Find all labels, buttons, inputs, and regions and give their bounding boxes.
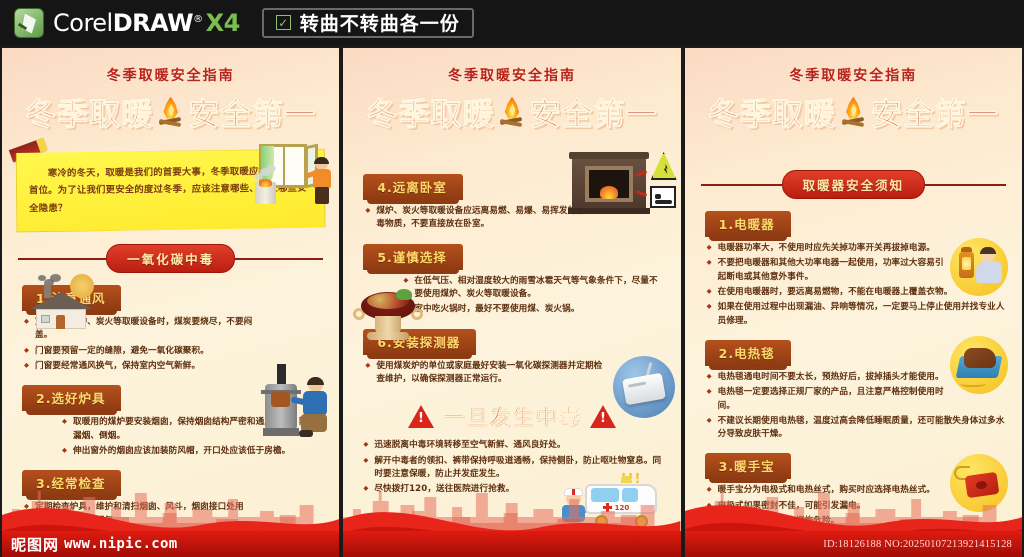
flame-icon [157, 97, 184, 127]
flammable-warning-sign-icon [651, 152, 677, 180]
panel1-footer-bar: 昵图网 www.nipic.com [2, 531, 339, 557]
list-item: 电暖器功率大，不使用时应先关掉功率开关再拔掉电源。 [707, 242, 946, 255]
panel2-tab-4: 4.远离卧室 [363, 174, 462, 200]
rule-left [18, 258, 106, 260]
electric-heater-icon [950, 238, 1008, 296]
panel3-tab-2: 2.电热毯 [705, 340, 791, 366]
list-item: 迅速脱离中毒环境转移至空气新鲜、通风良好处。 [363, 439, 666, 452]
bedroom-sign-icon [650, 186, 676, 208]
list-item: 如果在使用过程中出现漏油、异响等情况，一定要马上停止使用并找专业人员修理。 [707, 301, 1006, 328]
poster-panel-1[interactable]: 冬季取暖安全指南 冬季取暖 安全第一 寒冷的冬天，取暖是我们的首要大事，冬季取暖… [2, 48, 339, 557]
headline-right-text: 安全第一 [529, 89, 657, 134]
brand-draw: DRAW [113, 9, 193, 37]
headline-right-text: 安全第一 [188, 89, 316, 134]
panel2-bottom-decoration [343, 465, 680, 557]
list-item: 伸出窗外的烟囱应该加装防风帽，开口处应该低于房檐。 [62, 445, 323, 458]
headline-left-text: 冬季取暖 [25, 89, 153, 134]
panel2-tab-5: 5.谨慎选择 [363, 244, 462, 270]
panel3-tab-1: 1.电暖器 [705, 211, 791, 237]
warning-triangle-left-icon [408, 405, 434, 428]
list-item: 电热毯通电时间不要太长，预热好后，拔掉插头才能使用。 [707, 371, 944, 384]
brand-version: X4 [206, 9, 240, 37]
list-item: 不要把电暖器和其他大功率电器一起使用，功率过大容易引起断电或其他意外事件。 [707, 257, 946, 284]
house-chimney-illustration [26, 270, 98, 330]
image-id-text: ID:18126188 NO:20250107213921415128 [823, 539, 1022, 550]
list-item: 电热毯一定要选择正规厂家的产品，且注意严格控制使用时间。 [707, 386, 944, 413]
panel3-tab-1-wrap: 1.电暖器 [705, 211, 1022, 237]
panel1-tab-2: 2.选好炉具 [22, 385, 121, 411]
panel1-pill-label: 一氧化碳中毒 [106, 244, 235, 273]
rule-right [925, 184, 1006, 186]
panel3-headline: 冬季取暖 安全第一 [685, 89, 1022, 134]
panel3-pill-label: 取暖器安全须知 [782, 170, 926, 199]
checkbox-checked-icon[interactable]: ✓ [276, 15, 291, 30]
panel2-tab-5-wrap: 5.谨慎选择 [363, 244, 680, 270]
headline-left-text: 冬季取暖 [366, 89, 494, 134]
poster-panel-2[interactable]: 冬季取暖安全指南 冬季取暖 安全第一 4.远离卧室 煤炉、炭火等取暖设备应远离易… [343, 48, 680, 557]
panel3-subtitle: 冬季取暖安全指南 [685, 65, 1022, 85]
panel3-footer-bar: ID:18126188 NO:20250107213921415128 [685, 531, 1022, 557]
list-item: 门窗要预留一定的缝隙，避免一氧化碳聚积。 [24, 345, 269, 358]
nipic-cn-text: 昵图网 [11, 534, 59, 555]
app-titlebar: CorelDRAW®X4 ✓ 转曲不转曲各一份 [0, 0, 1024, 45]
nipic-watermark: 昵图网 www.nipic.com [2, 534, 178, 555]
conversion-note-text: 转曲不转曲各一份 [300, 9, 460, 36]
warning-title: 一旦发生中毒 [443, 401, 581, 431]
nipic-url-text: www.nipic.com [64, 536, 177, 552]
panel2-headline: 冬季取暖 安全第一 [343, 89, 680, 134]
hotpot-illustration [357, 286, 419, 346]
panel1-headline: 冬季取暖 安全第一 [2, 89, 339, 134]
panel1-section-pill-row: 一氧化碳中毒 [18, 244, 323, 273]
panel1-subtitle: 冬季取暖安全指南 [2, 65, 339, 85]
coreldraw-logo-icon [14, 8, 44, 38]
ventilation-window-illustration [247, 144, 333, 206]
stove-inspection-illustration [261, 364, 331, 442]
rule-left [701, 184, 782, 186]
fireplace-illustration [572, 152, 677, 218]
list-item: 在低气压、相对湿度较大的雨雪冰雹天气等气象条件下，尽量不要使用煤炉、炭火等取暖设… [403, 275, 664, 302]
electric-blanket-icon [950, 336, 1008, 394]
panel3-section-pill-row: 取暖器安全须知 [701, 170, 1006, 199]
list-item: 门窗要经常通风换气，保持室内空气新鲜。 [24, 360, 269, 373]
panel1-bottom-decoration: 昵图网 www.nipic.com [2, 465, 339, 557]
panel2-subtitle: 冬季取暖安全指南 [343, 65, 680, 85]
co-detector-illustration [613, 356, 675, 418]
panel3-bottom-decoration: ID:18126188 NO:20250107213921415128 [685, 465, 1022, 557]
conversion-note-box: ✓ 转曲不转曲各一份 [262, 8, 474, 38]
rule-right [235, 258, 323, 260]
list-item: 家中吃火锅时，最好不要使用煤、炭火锅。 [403, 303, 664, 316]
headline-left-text: 冬季取暖 [708, 89, 836, 134]
panel2-footer-bar [343, 531, 680, 557]
brand-trademark-icon: ® [193, 14, 203, 25]
flame-icon [498, 97, 525, 127]
coreldraw-wordmark: CorelDRAW®X4 [53, 9, 240, 37]
poster-panel-3[interactable]: 冬季取暖安全指南 冬季取暖 安全第一 取暖器安全须知 1.电暖器 电暖器功率大，… [685, 48, 1022, 557]
flame-icon [840, 97, 867, 127]
headline-right-text: 安全第一 [871, 89, 999, 134]
poster-panels: 冬季取暖安全指南 冬季取暖 安全第一 寒冷的冬天，取暖是我们的首要大事，冬季取暖… [0, 45, 1024, 557]
panel2-list-4: 煤炉、炭火等取暖设备应远离易燃、易爆、易挥发的有毒物质，不要直接放在卧室。 [365, 205, 585, 232]
panel2-list-6: 使用煤炭炉的单位或家庭最好安装一氧化碳探测器并定期检查维护，以确保探测器正常运行… [365, 360, 610, 387]
list-item: 使用煤炭炉的单位或家庭最好安装一氧化碳探测器并定期检查维护，以确保探测器正常运行… [365, 360, 610, 387]
list-item: 煤炉、炭火等取暖设备应远离易燃、易爆、易挥发的有毒物质，不要直接放在卧室。 [365, 205, 585, 232]
panel2-list-5: 在低气压、相对湿度较大的雨雪冰雹天气等气象条件下，尽量不要使用煤炉、炭火等取暖设… [403, 275, 664, 317]
list-item: 不建议长期使用电热毯，温度过高会降低睡眠质量，还可能散失身体过多水分导致皮肤干燥… [707, 415, 1006, 442]
brand-corel: Corel [53, 9, 113, 37]
